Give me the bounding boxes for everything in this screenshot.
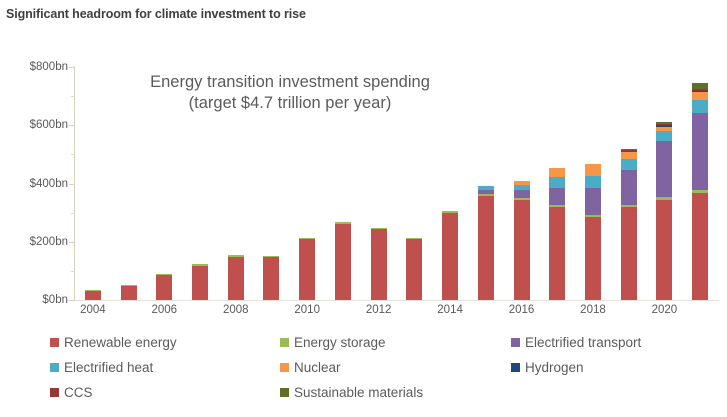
bar-stack [406,238,422,300]
bar-segment[interactable] [585,176,601,188]
legend-row: Electrified heatNuclearHydrogen [50,361,722,386]
bar-segment[interactable] [692,100,708,113]
bar-segment[interactable] [371,229,387,300]
legend-item[interactable]: Nuclear [280,361,341,375]
bar-segment[interactable] [692,193,708,300]
bar-stack [299,238,315,300]
legend-swatch [50,363,59,372]
legend-swatch [280,363,289,372]
bar-stack [442,211,458,300]
bar-stack [514,181,530,300]
bar-segment[interactable] [263,257,279,300]
legend-swatch [511,338,520,347]
bar-segment[interactable] [656,200,672,300]
x-axis-tick-label: 2006 [134,304,194,316]
legend-item[interactable]: Hydrogen [511,361,584,375]
legend-row: CCSSustainable materials [50,386,722,411]
legend-item-label: Energy storage [294,336,386,350]
bar-segment[interactable] [442,213,458,300]
bar-segment[interactable] [692,92,708,100]
bar-segment[interactable] [121,286,137,300]
legend-item[interactable]: CCS [50,386,93,400]
bar-stack [335,222,351,300]
bar-segment[interactable] [585,164,601,176]
bar-segment[interactable] [656,131,672,141]
legend-item-label: Hydrogen [525,361,584,375]
bar-segment[interactable] [192,266,208,300]
legend-row: Renewable energyEnergy storageElectrifie… [50,336,722,361]
legend-item[interactable]: Electrified transport [511,336,641,350]
bar-segment[interactable] [585,188,601,215]
bar-segment[interactable] [514,200,530,300]
bar-stack [228,255,244,300]
legend-item-label: Renewable energy [64,336,177,350]
legend-item[interactable]: Sustainable materials [280,386,423,400]
chart-page: Significant headroom for climate investm… [0,0,727,417]
bar-stack [656,122,672,300]
legend-swatch [280,388,289,397]
bar-segment[interactable] [156,275,172,300]
legend-item-label: Electrified heat [64,361,153,375]
bar-segment[interactable] [549,168,565,176]
x-axis-tick-label: 2016 [492,304,552,316]
legend-swatch [50,388,59,397]
x-axis-tick-label: 2008 [206,304,266,316]
bar-segment[interactable] [549,207,565,300]
bar-segment[interactable] [549,188,565,205]
bar-segment[interactable] [621,152,637,159]
chart-legend: Renewable energyEnergy storageElectrifie… [50,336,722,411]
bar-stack [692,83,708,300]
legend-swatch [511,363,520,372]
bar-stack [371,228,387,300]
bar-segment[interactable] [406,239,422,300]
x-axis-tick-label: 2018 [563,304,623,316]
bar-stack [478,186,494,300]
bar-segment[interactable] [514,190,530,198]
y-axis-tick-label: $200bn [2,236,68,248]
legend-item[interactable]: Electrified heat [50,361,153,375]
bar-segment[interactable] [656,141,672,198]
bar-stack [156,274,172,300]
legend-item-label: Electrified transport [525,336,641,350]
bar-segment[interactable] [621,207,637,300]
bar-segment[interactable] [692,113,708,190]
x-axis-tick-label: 2010 [277,304,337,316]
bar-stack [85,290,101,300]
legend-item-label: Sustainable materials [294,386,423,400]
y-axis-tick-label: $800bn [2,61,68,73]
x-axis-tick-label: 2014 [420,304,480,316]
legend-item[interactable]: Renewable energy [50,336,177,350]
y-axis-tick-label: $400bn [2,178,68,190]
x-axis-line [74,300,719,301]
bar-segment[interactable] [85,291,101,300]
y-axis-tick-label: $600bn [2,119,68,131]
legend-item-label: Nuclear [294,361,341,375]
y-axis-tick-major [69,300,75,301]
bar-segment[interactable] [585,217,601,300]
bar-stack [621,149,637,300]
legend-swatch [280,338,289,347]
bar-stack [585,164,601,300]
bar-segment[interactable] [621,170,637,206]
x-axis-tick-label: 2020 [634,304,694,316]
bar-segment[interactable] [621,159,637,169]
bar-segment[interactable] [299,239,315,300]
x-axis-tick-label: 2004 [63,304,123,316]
legend-swatch [50,338,59,347]
x-axis-labels: 200420062008201020122014201620182020 [0,304,727,326]
x-axis-tick-label: 2012 [349,304,409,316]
bar-stack [121,285,137,300]
plot-area [75,67,718,300]
bar-segment[interactable] [228,257,244,300]
bar-segment[interactable] [335,224,351,300]
bar-segment[interactable] [478,196,494,300]
legend-item[interactable]: Energy storage [280,336,386,350]
bar-stack [549,168,565,300]
bar-stack [192,264,208,300]
bar-segment[interactable] [549,177,565,188]
bar-stack [263,256,279,300]
legend-item-label: CCS [64,386,93,400]
